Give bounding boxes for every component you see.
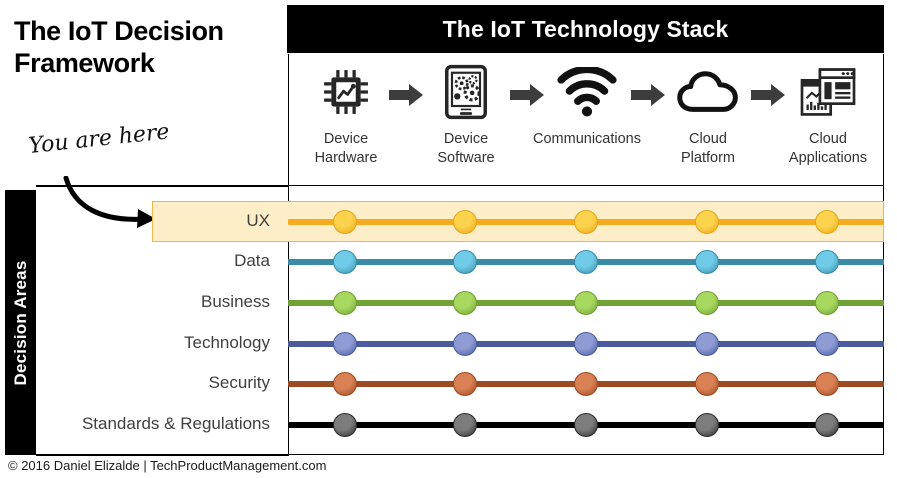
grid-bottom-divider <box>36 454 289 456</box>
intersection-dot[interactable] <box>333 332 357 356</box>
intersection-dot[interactable] <box>695 210 719 234</box>
stack-column-label: Communications <box>527 126 647 149</box>
intersection-dot[interactable] <box>695 413 719 437</box>
intersection-dot[interactable] <box>815 372 839 396</box>
intersection-dot[interactable] <box>815 413 839 437</box>
intersection-dot[interactable] <box>695 372 719 396</box>
decision-area-label: UX <box>28 211 288 231</box>
intersection-dot[interactable] <box>574 332 598 356</box>
dashboard-windows-icon <box>768 54 888 126</box>
stack-column-1[interactable]: Device Hardware <box>286 54 406 185</box>
decision-area-row-2[interactable]: Data <box>28 251 288 273</box>
intersection-dot[interactable] <box>333 372 357 396</box>
intersection-dot[interactable] <box>333 250 357 274</box>
intersection-dot[interactable] <box>453 372 477 396</box>
decision-area-row-3[interactable]: Business <box>28 292 288 314</box>
decision-area-label: Standards & Regulations <box>28 414 288 434</box>
decision-areas-label: Decision Areas <box>11 260 31 385</box>
intersection-dot[interactable] <box>815 332 839 356</box>
stack-header-bar: The IoT Technology Stack <box>287 5 884 53</box>
intersection-dot[interactable] <box>695 332 719 356</box>
intersection-dot[interactable] <box>453 332 477 356</box>
intersection-dot[interactable] <box>453 413 477 437</box>
stack-column-4[interactable]: Cloud Platform <box>648 54 768 185</box>
intersection-dot[interactable] <box>574 291 598 315</box>
decision-area-label: Data <box>28 251 288 271</box>
decision-area-row-1[interactable]: UX <box>28 211 288 233</box>
cloud-icon <box>648 54 768 126</box>
stack-column-3[interactable]: Communications <box>527 54 647 185</box>
intersection-dot[interactable] <box>453 250 477 274</box>
tablet-gears-icon <box>406 54 526 126</box>
intersection-dot[interactable] <box>453 291 477 315</box>
intersection-dot[interactable] <box>574 250 598 274</box>
intersection-dot[interactable] <box>815 291 839 315</box>
stack-column-2[interactable]: Device Software <box>406 54 526 185</box>
you-are-here-annotation: You are here <box>27 119 170 159</box>
stack-column-label: Device Hardware <box>286 126 406 169</box>
intersection-dot[interactable] <box>815 250 839 274</box>
intersection-dot[interactable] <box>453 210 477 234</box>
grid-top-divider <box>36 185 289 187</box>
microchip-icon <box>286 54 406 126</box>
stack-header-title: The IoT Technology Stack <box>443 16 729 43</box>
decision-area-label: Business <box>28 292 288 312</box>
page-title: The IoT Decision Framework <box>14 16 276 80</box>
intersection-dot[interactable] <box>695 250 719 274</box>
decision-area-row-6[interactable]: Standards & Regulations <box>28 414 288 436</box>
intersection-dot[interactable] <box>574 372 598 396</box>
stack-column-label: Cloud Applications <box>768 126 888 169</box>
framework-diagram: The IoT Decision Framework You are here … <box>0 0 897 478</box>
copyright-footer: © 2016 Daniel Elizalde | TechProductMana… <box>8 458 326 473</box>
stack-column-label: Cloud Platform <box>648 126 768 169</box>
technology-stack-columns: Device Hardware Device Software Commu <box>288 54 884 185</box>
intersection-dot[interactable] <box>574 210 598 234</box>
intersection-dot[interactable] <box>574 413 598 437</box>
decision-area-row-5[interactable]: Security <box>28 373 288 395</box>
intersection-dot[interactable] <box>815 210 839 234</box>
intersection-dot[interactable] <box>695 291 719 315</box>
decision-area-label: Technology <box>28 333 288 353</box>
intersection-dot[interactable] <box>333 291 357 315</box>
stack-column-label: Device Software <box>406 126 526 169</box>
stack-column-5[interactable]: Cloud Applications <box>768 54 888 185</box>
wifi-signal-icon <box>527 54 647 126</box>
decision-area-row-4[interactable]: Technology <box>28 333 288 355</box>
intersection-dot[interactable] <box>333 210 357 234</box>
intersection-dot[interactable] <box>333 413 357 437</box>
decision-area-label: Security <box>28 373 288 393</box>
